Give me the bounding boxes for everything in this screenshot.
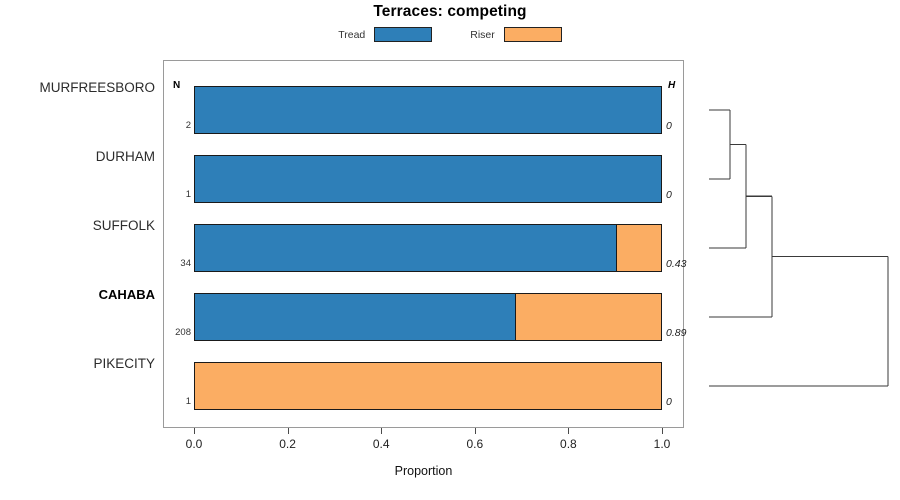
x-axis-tick-label: 0.0 xyxy=(170,437,218,451)
x-axis-title: Proportion xyxy=(163,464,684,478)
bar-segment-tread xyxy=(195,156,661,202)
x-axis-tick xyxy=(475,428,476,434)
bar-segment-riser xyxy=(617,225,661,271)
dendrogram xyxy=(684,60,900,428)
bar-segment-riser xyxy=(516,294,661,340)
x-axis-tick-label: 0.4 xyxy=(357,437,405,451)
chart-title: Terraces: competing xyxy=(0,3,900,21)
stacked-bar xyxy=(194,86,662,134)
x-axis-tick xyxy=(194,428,195,434)
bar-segment-riser xyxy=(195,363,661,409)
x-axis-tick xyxy=(662,428,663,434)
row-n-value: 1 xyxy=(163,189,191,200)
row-label-durham: DURHAM xyxy=(0,149,155,165)
x-axis-tick-label: 1.0 xyxy=(638,437,686,451)
stacked-bar xyxy=(194,362,662,410)
legend-item-riser: Riser xyxy=(470,27,562,42)
stacked-bar xyxy=(194,155,662,203)
legend-swatch-riser-icon xyxy=(504,27,562,42)
row-n-value: 34 xyxy=(163,258,191,269)
row-label-suffolk: SUFFOLK xyxy=(0,218,155,234)
row-label-cahaba: CAHABA xyxy=(0,287,155,303)
x-axis-tick-label: 0.2 xyxy=(264,437,312,451)
bar-segment-tread xyxy=(195,294,516,340)
x-axis-tick xyxy=(288,428,289,434)
legend-item-tread: Tread xyxy=(338,27,432,42)
chart-canvas: Terraces: competing Tread Riser N H MURF… xyxy=(0,0,900,500)
x-axis-tick-label: 0.8 xyxy=(544,437,592,451)
x-axis-tick-label: 0.6 xyxy=(451,437,499,451)
row-n-value: 2 xyxy=(163,120,191,131)
x-axis: 0.00.20.40.60.81.0 xyxy=(163,428,684,429)
x-axis-tick xyxy=(381,428,382,434)
stacked-bar xyxy=(194,293,662,341)
row-n-value: 1 xyxy=(163,396,191,407)
legend-label-riser: Riser xyxy=(470,29,495,41)
chart-legend: Tread Riser xyxy=(0,27,900,42)
row-n-value: 208 xyxy=(163,327,191,338)
row-label-pikecity: PIKECITY xyxy=(0,356,155,372)
row-label-murfreesboro: MURFREESBORO xyxy=(0,80,155,96)
x-axis-tick xyxy=(568,428,569,434)
legend-label-tread: Tread xyxy=(338,29,365,41)
stacked-bar xyxy=(194,224,662,272)
bar-segment-tread xyxy=(195,225,617,271)
legend-swatch-tread-icon xyxy=(374,27,432,42)
bar-segment-tread xyxy=(195,87,661,133)
